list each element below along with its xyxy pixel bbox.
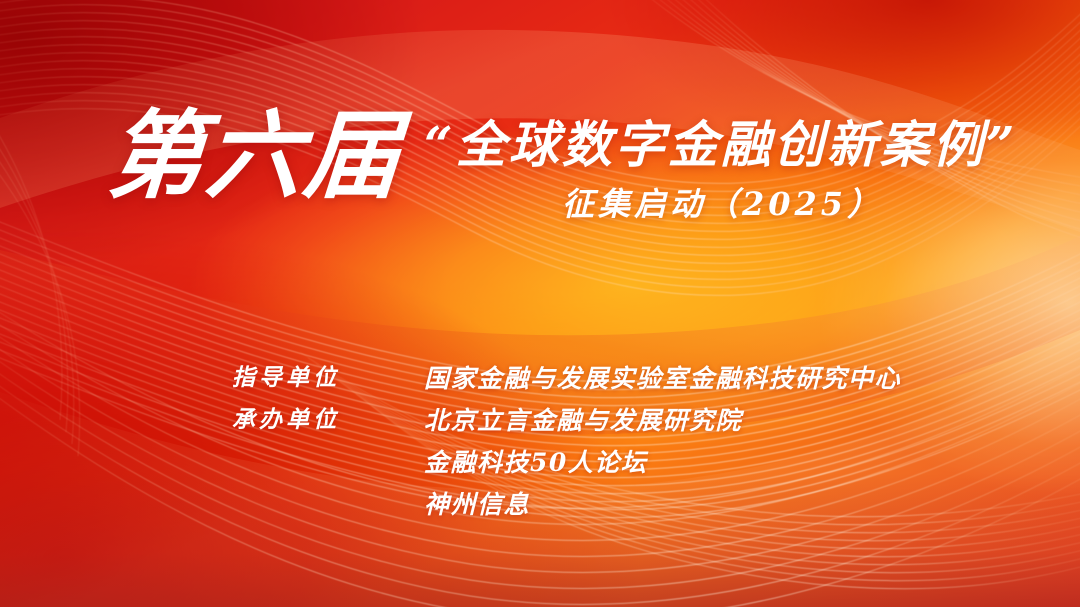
organizations-block: 指导单位 国家金融与发展实验室金融科技研究中心 承办单位 北京立言金融与发展研究…	[0, 0, 1080, 607]
org-value-shenzhou: 神州信息	[424, 492, 530, 517]
org-value-forum: 金融科技50人论坛	[424, 450, 647, 475]
poster-canvas: 第六届 “全球数字金融创新案例” 征集启动（2025） 指导单位 国家金融与发展…	[0, 0, 1080, 607]
org-label-host: 承办单位	[232, 408, 340, 431]
org-value-host: 北京立言金融与发展研究院	[424, 408, 742, 433]
org-label-guidance: 指导单位	[232, 366, 340, 389]
org-value-guidance: 国家金融与发展实验室金融科技研究中心	[424, 366, 901, 391]
